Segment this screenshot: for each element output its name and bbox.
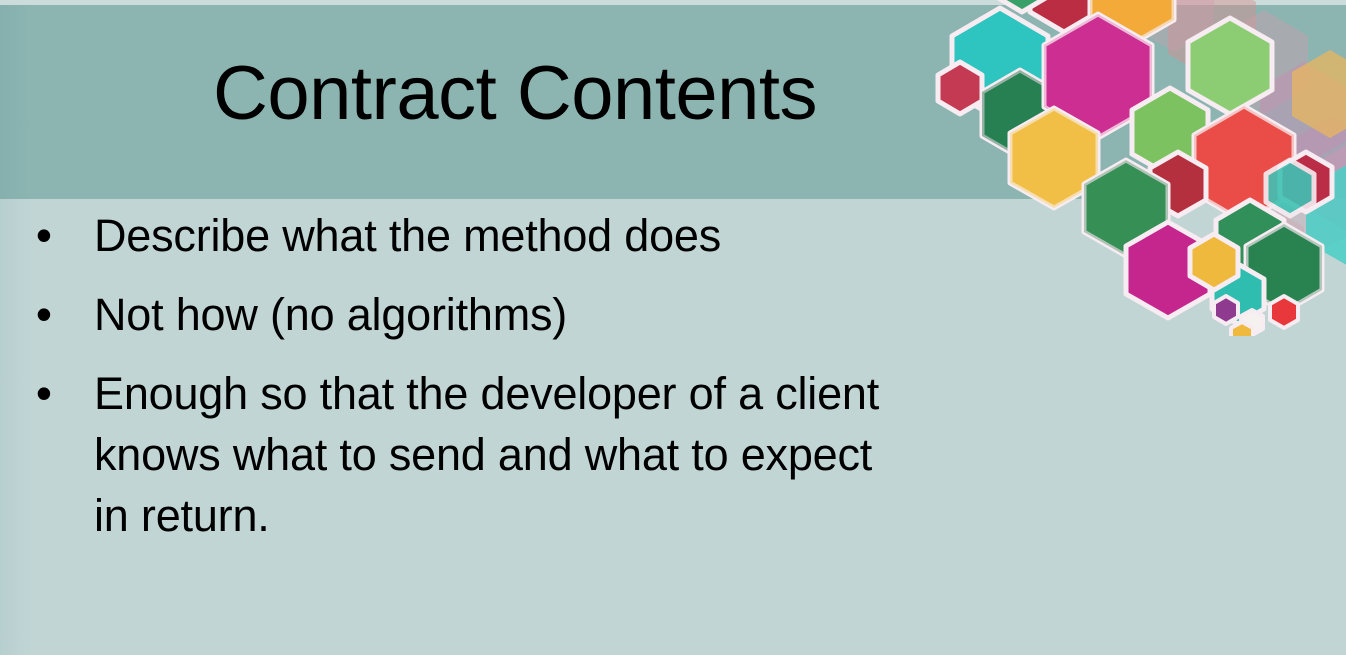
bullet-point-icon: • <box>0 205 52 266</box>
slide-bullet-list: • Describe what the method does • Not ho… <box>0 205 900 564</box>
bullet-item-2-text: Not how (no algorithms) <box>52 284 900 345</box>
bullet-item-1: • Describe what the method does <box>0 205 900 266</box>
bullet-item-1-text: Describe what the method does <box>52 205 900 266</box>
bullet-item-3-text: Enough so that the developer of a client… <box>52 363 900 546</box>
slide-title: Contract Contents <box>0 46 1030 142</box>
slide-canvas: Contract Contents • Describe what the me… <box>0 0 1346 655</box>
bullet-point-icon: • <box>0 284 52 345</box>
bullet-item-3: • Enough so that the developer of a clie… <box>0 363 900 546</box>
bullet-point-icon: • <box>0 363 52 424</box>
bullet-item-2: • Not how (no algorithms) <box>0 284 900 345</box>
